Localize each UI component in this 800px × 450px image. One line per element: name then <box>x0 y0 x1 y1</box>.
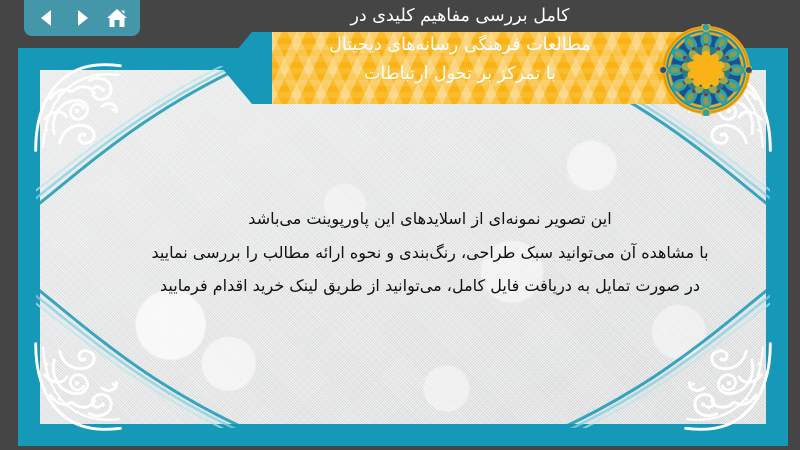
home-button[interactable] <box>103 5 131 31</box>
persian-medallion-ornament-icon <box>660 24 752 116</box>
home-icon <box>106 8 128 28</box>
prev-slide-button[interactable] <box>33 5 61 31</box>
arrow-left-icon <box>37 8 57 28</box>
slide-content-panel: این تصویر نمونه‌ای از اسلایدهای این پاور… <box>40 70 766 424</box>
arrow-right-icon <box>72 8 92 28</box>
navigation-toolbar <box>24 0 140 36</box>
body-line-3: در صورت تمایل به دریافت فایل کامل، می‌تو… <box>80 269 780 303</box>
title-banner <box>222 32 692 104</box>
body-line-1: این تصویر نمونه‌ای از اسلایدهای این پاور… <box>80 202 780 236</box>
corner-filigree-ornament-icon <box>32 62 124 154</box>
title-line-1: کامل بررسی مفاهیم کلیدی در <box>236 2 684 31</box>
slide-body-text: این تصویر نمونه‌ای از اسلایدهای این پاور… <box>80 202 780 303</box>
banner-chevron-tail <box>222 32 274 104</box>
corner-filigree-ornament-icon <box>682 340 774 432</box>
next-slide-button[interactable] <box>68 5 96 31</box>
slide-stage: این تصویر نمونه‌ای از اسلایدهای این پاور… <box>0 0 800 450</box>
body-line-2: با مشاهده آن می‌توانید سبک طراحی، رنگ‌بن… <box>80 236 780 270</box>
corner-filigree-ornament-icon <box>32 340 124 432</box>
banner-body <box>272 32 692 104</box>
